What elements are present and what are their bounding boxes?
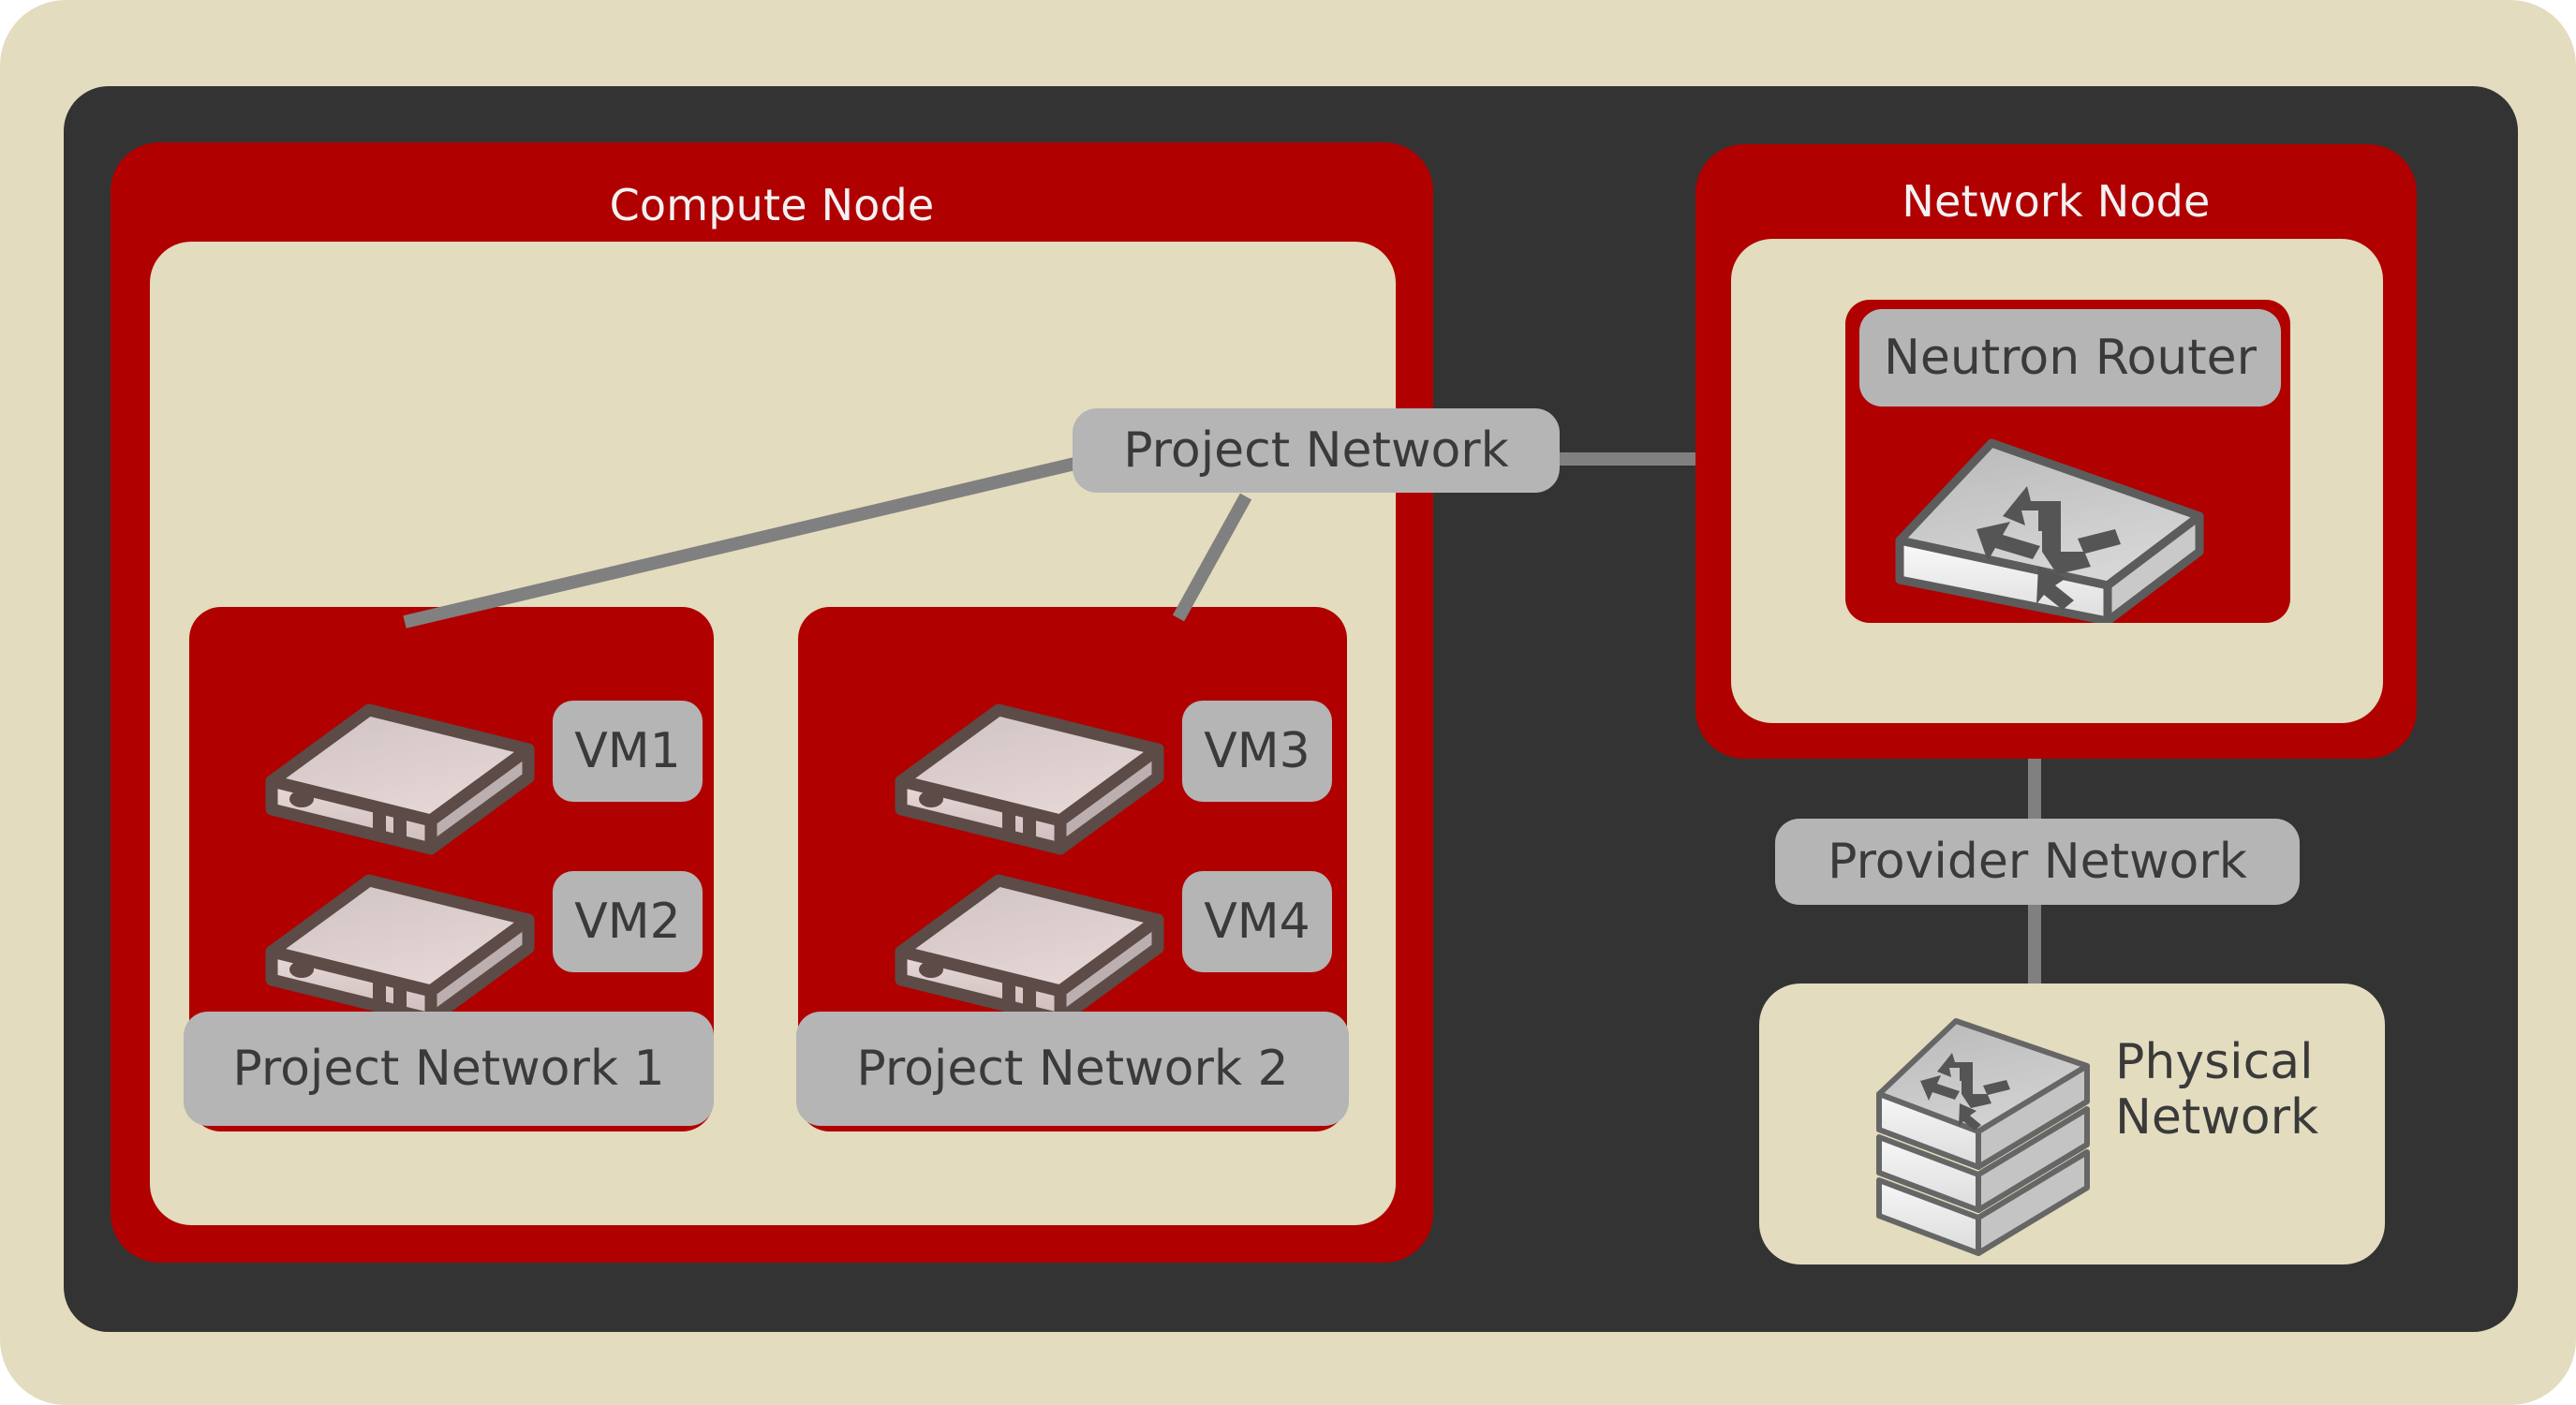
physical-network-label: Physical Network <box>2115 1035 2318 1146</box>
project-network-2-label[interactable]: Project Network 2 <box>796 1012 1349 1126</box>
router-icon <box>1890 426 2209 623</box>
vm-label-vm1[interactable]: VM1 <box>553 701 703 802</box>
server-icon-vm3 <box>884 691 1175 860</box>
provider-network-link-label[interactable]: Provider Network <box>1775 819 2300 905</box>
project-network-1-label[interactable]: Project Network 1 <box>184 1012 714 1126</box>
server-icon-vm1 <box>255 691 545 860</box>
switch-stack-icon <box>1866 1013 2100 1259</box>
physical-network-label-line2: Network <box>2115 1090 2318 1146</box>
network-node-title: Network Node <box>1695 180 2417 223</box>
diagram-canvas: Compute Node <box>0 0 2576 1405</box>
physical-network-label-line1: Physical <box>2115 1035 2318 1090</box>
vm-label-vm4[interactable]: VM4 <box>1182 871 1332 972</box>
compute-node-title: Compute Node <box>111 184 1433 227</box>
neutron-router-label[interactable]: Neutron Router <box>1859 309 2281 407</box>
vm-label-vm3[interactable]: VM3 <box>1182 701 1332 802</box>
server-icon-vm2 <box>255 862 545 1030</box>
project-network-link-label[interactable]: Project Network <box>1073 408 1560 493</box>
server-icon-vm4 <box>884 862 1175 1030</box>
vm-label-vm2[interactable]: VM2 <box>553 871 703 972</box>
